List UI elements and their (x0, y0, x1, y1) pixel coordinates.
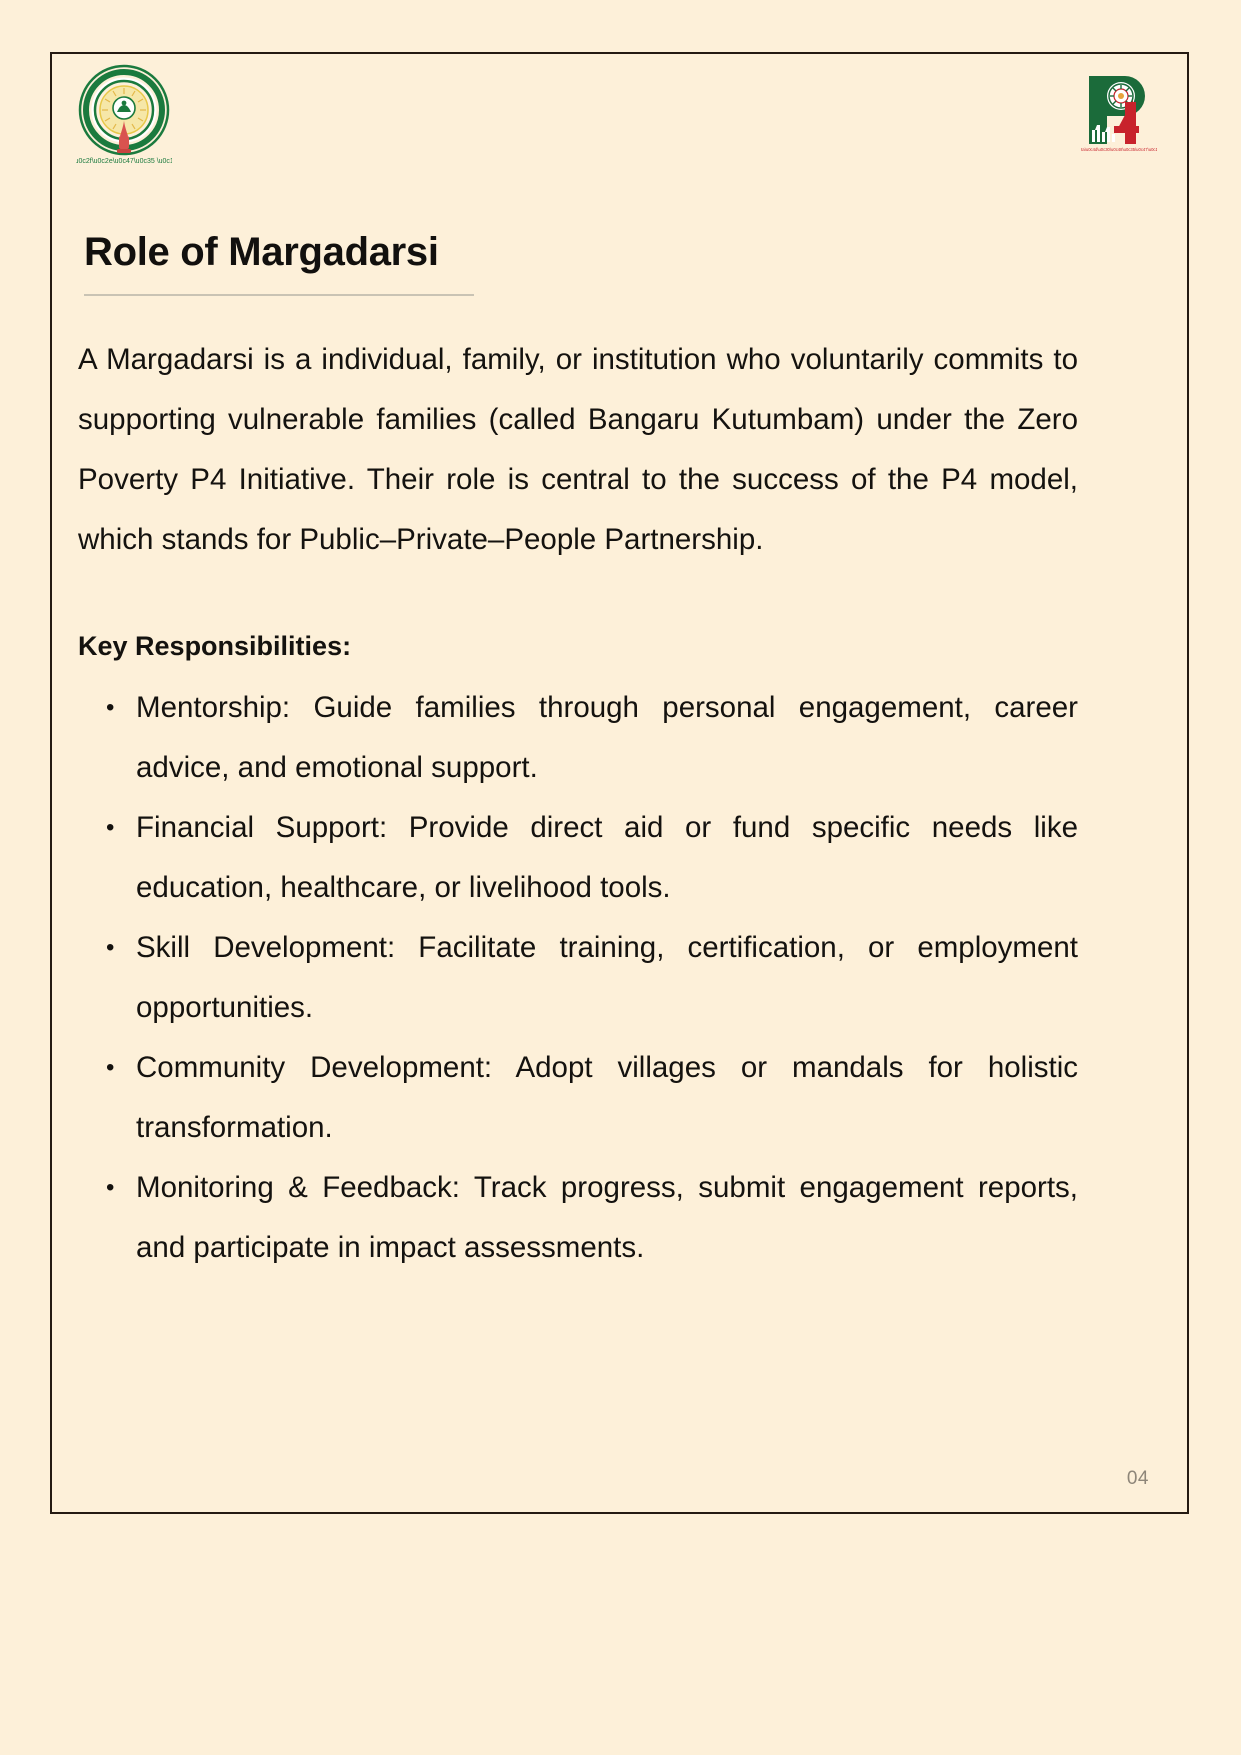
key-responsibilities-heading: Key Responsibilities: (78, 570, 1078, 666)
page-title: Role of Margadarsi (84, 230, 1084, 274)
page-number: 04 (1127, 1468, 1149, 1490)
document-page: \u0c38\u0c24\u0c4d\u0c2f\u0c2e\u0c47\u0c… (0, 0, 1241, 1755)
responsibilities-list: Mentorship: Guide families through perso… (78, 678, 1078, 1278)
andhra-pradesh-government-emblem-icon: \u0c38\u0c24\u0c4d\u0c2f\u0c2e\u0c47\u0c… (76, 62, 172, 167)
page-content: A Margadarsi is a individual, family, or… (78, 330, 1078, 1278)
list-item: Community Development: Adopt villages or… (132, 1038, 1078, 1158)
list-item: Skill Development: Facilitate training, … (132, 918, 1078, 1038)
svg-text:\u0c2a\u0c2c\u0c4d\u0c32\u0c3f: \u0c2a\u0c2c\u0c4d\u0c32\u0c3f\u0c15\u0c… (1081, 147, 1157, 152)
list-item: Mentorship: Guide families through perso… (132, 678, 1078, 798)
page-border-frame: \u0c38\u0c24\u0c4d\u0c2f\u0c2e\u0c47\u0c… (50, 52, 1189, 1514)
list-item-text: Community Development: Adopt villages or… (136, 1051, 1078, 1144)
title-block: Role of Margadarsi (84, 230, 1084, 296)
svg-text:\u0c38\u0c24\u0c4d\u0c2f\u0c2e: \u0c38\u0c24\u0c4d\u0c2f\u0c2e\u0c47\u0c… (76, 158, 172, 165)
list-item-text: Monitoring & Feedback: Track progress, s… (136, 1171, 1078, 1264)
intro-paragraph: A Margadarsi is a individual, family, or… (78, 330, 1078, 570)
title-divider (84, 294, 474, 296)
p4-initiative-logo-icon: \u0c2a\u0c2c\u0c4d\u0c32\u0c3f\u0c15\u0c… (1081, 72, 1157, 154)
page-header: \u0c38\u0c24\u0c4d\u0c2f\u0c2e\u0c47\u0c… (52, 54, 1187, 204)
list-item-text: Skill Development: Facilitate training, … (136, 931, 1078, 1024)
list-item: Monitoring & Feedback: Track progress, s… (132, 1158, 1078, 1278)
list-item: Financial Support: Provide direct aid or… (132, 798, 1078, 918)
list-item-text: Financial Support: Provide direct aid or… (136, 811, 1078, 904)
list-item-text: Mentorship: Guide families through perso… (136, 691, 1078, 784)
